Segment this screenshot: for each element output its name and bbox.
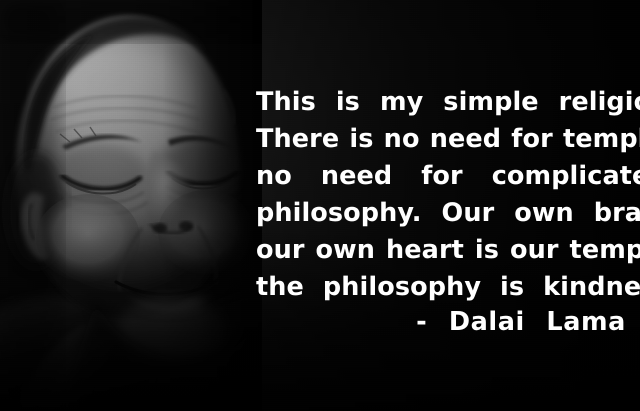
quote-line-2: There is no need for temples; [256,121,626,158]
quote-line-5: our own heart is our temple; [256,232,626,269]
quote-line-4: philosophy. Our own brain, [256,195,626,232]
quote-line-1: This is my simple religion. [256,84,626,121]
quote-attribution: - Dalai Lama [256,306,626,338]
quote-line-6: the philosophy is kindness. [256,269,626,306]
quote-line-3: no need for complicated [256,158,626,195]
quote-poster: This is my simple religion. There is no … [0,0,640,411]
quote-text: This is my simple religion. There is no … [256,84,626,306]
